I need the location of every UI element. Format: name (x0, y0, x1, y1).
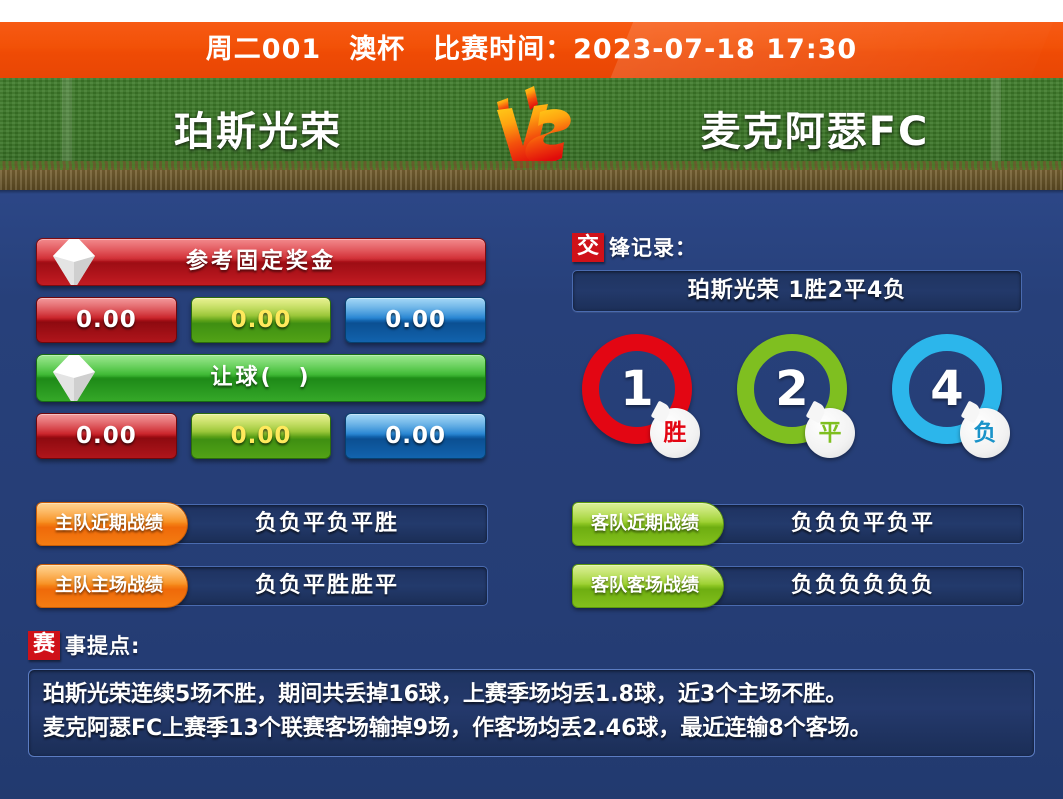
head-to-head-heading: 交 锋记录： (572, 232, 1022, 262)
record-row: 负负平胜胜平 主队主场战绩 (36, 564, 488, 608)
ring-badge-label: 胜 (650, 408, 700, 458)
handicap-odds-lose[interactable]: 0.00 (345, 413, 486, 459)
info-board: 参考固定奖金 0.00 0.00 0.00 (0, 190, 1063, 799)
match-preview-card: 周二001 澳杯 比赛时间：2023-07-18 17:30 珀斯光荣 (0, 0, 1063, 799)
ring-badge-draw: 平 (805, 408, 855, 458)
record-row: 负负负负负负 客队客场战绩 (572, 564, 1024, 608)
away-team-name: 麦克阿瑟FC (615, 100, 1015, 164)
diamond-icon (51, 354, 97, 402)
odds-value: 0.00 (192, 414, 331, 458)
handicap-odds-draw[interactable]: 0.00 (191, 413, 332, 459)
away-records: 负负负平负平 客队近期战绩 负负负负负负 客队客场战绩 (572, 502, 1024, 626)
ring-win: 1 胜 (582, 334, 708, 470)
ring-badge-label: 平 (805, 408, 855, 458)
fixed-bonus-odds-win[interactable]: 0.00 (36, 297, 177, 343)
record-tag-away-recent: 客队近期战绩 (572, 502, 724, 546)
record-track: 负负平胜胜平 (136, 566, 488, 606)
ring-draw: 2 平 (737, 334, 863, 470)
record-tag-home-recent: 主队近期战绩 (36, 502, 188, 546)
tips-heading: 赛 事提点: (28, 630, 1035, 660)
tips-box: 珀斯光荣连续5场不胜，期间共丢掉16球，上赛季场均丢1.8球，近3个主场不胜。 … (28, 669, 1035, 757)
handicap-odds-win[interactable]: 0.00 (36, 413, 177, 459)
record-result: 负负平胜胜平 (137, 567, 487, 605)
page-title: 周二001 澳杯 比赛时间：2023-07-18 17:30 (0, 22, 1063, 78)
head-to-head-rings: 1 胜 2 平 4 负 (572, 334, 1022, 470)
head-to-head-panel: 交 锋记录： 珀斯光荣 1胜2平4负 1 胜 2 平 (572, 232, 1022, 470)
record-tag-label: 主队主场战绩 (37, 565, 187, 607)
fixed-bonus-title-label: 参考固定奖金 (37, 239, 485, 285)
odds-value: 0.00 (192, 298, 331, 342)
ring-badge-label: 负 (960, 408, 1010, 458)
record-track: 负负负负负负 (672, 566, 1024, 606)
top-white-strip (0, 0, 1063, 22)
heading-label: 锋记录： (609, 232, 697, 262)
handicap-title-label: 让球( ) (37, 355, 485, 401)
record-result: 负负负负负负 (673, 567, 1023, 605)
record-tag-home-host: 主队主场战绩 (36, 564, 188, 608)
heading-label: 事提点: (65, 630, 140, 660)
tips-line: 麦克阿瑟FC上赛季13个联赛客场输掉9场，作客场均丢2.46球，最近连输8个客场… (43, 712, 1020, 746)
fixed-bonus-title-bar: 参考固定奖金 (36, 238, 486, 286)
head-to-head-summary-label: 珀斯光荣 1胜2平4负 (573, 271, 1021, 311)
fixed-bonus-odds-draw[interactable]: 0.00 (191, 297, 332, 343)
match-tips-section: 赛 事提点: 珀斯光荣连续5场不胜，期间共丢掉16球，上赛季场均丢1.8球，近3… (28, 630, 1035, 757)
record-tag-away-guest: 客队客场战绩 (572, 564, 724, 608)
record-tag-label: 客队客场战绩 (573, 565, 723, 607)
record-tag-label: 主队近期战绩 (37, 503, 187, 545)
odds-value: 0.00 (37, 414, 176, 458)
ring-lose: 4 负 (892, 334, 1018, 470)
heading-badge: 交 (572, 233, 604, 262)
tips-line: 珀斯光荣连续5场不胜，期间共丢掉16球，上赛季场均丢1.8球，近3个主场不胜。 (43, 678, 1020, 712)
home-records: 负负平负平胜 主队近期战绩 负负平胜胜平 主队主场战绩 (36, 502, 488, 626)
handicap-title-bar: 让球( ) (36, 354, 486, 402)
record-track: 负负负平负平 (672, 504, 1024, 544)
head-to-head-summary-bar: 珀斯光荣 1胜2平4负 (572, 270, 1022, 312)
pitch-banner: 珀斯光荣 麦克阿瑟FC (0, 78, 1063, 190)
fixed-bonus-odds-row: 0.00 0.00 0.00 (36, 297, 486, 343)
heading-badge: 赛 (28, 631, 60, 660)
ring-badge-lose: 负 (960, 408, 1010, 458)
odds-value: 0.00 (346, 298, 485, 342)
record-tag-label: 客队近期战绩 (573, 503, 723, 545)
record-track: 负负平负平胜 (136, 504, 488, 544)
record-result: 负负负平负平 (673, 505, 1023, 543)
record-row: 负负负平负平 客队近期战绩 (572, 502, 1024, 546)
odds-panel: 参考固定奖金 0.00 0.00 0.00 (36, 238, 486, 459)
header-bar: 周二001 澳杯 比赛时间：2023-07-18 17:30 (0, 22, 1063, 78)
handicap-odds-row: 0.00 0.00 0.00 (36, 413, 486, 459)
diamond-icon (51, 238, 97, 286)
pitch-dirt-strip (0, 168, 1063, 190)
record-row: 负负平负平胜 主队近期战绩 (36, 502, 488, 546)
odds-value: 0.00 (346, 414, 485, 458)
home-team-name: 珀斯光荣 (58, 100, 458, 164)
fixed-bonus-odds-lose[interactable]: 0.00 (345, 297, 486, 343)
record-result: 负负平负平胜 (137, 505, 487, 543)
odds-value: 0.00 (37, 298, 176, 342)
ring-badge-win: 胜 (650, 408, 700, 458)
